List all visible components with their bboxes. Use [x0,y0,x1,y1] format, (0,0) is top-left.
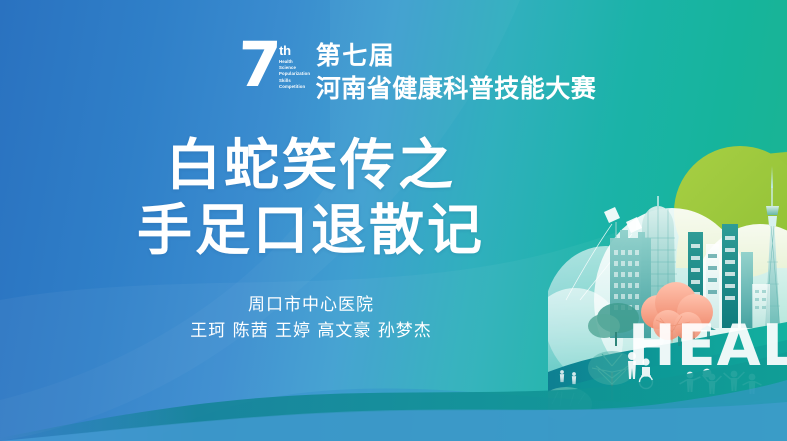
header-competition-name: 河南省健康科普技能大赛 [316,74,597,104]
edition-mark: 7 th Health Science Popularization Skill… [238,40,309,90]
english-line-competition: Competition [279,84,310,90]
poster-canvas: 7 th Health Science Popularization Skill… [0,0,787,441]
header-chinese-block: 第七届 河南省健康科普技能大赛 [316,40,597,104]
main-title: 白蛇笑传之 手足口退散记 [0,133,787,263]
edition-number: 7 [237,40,279,90]
edition-suffix-group: th Health Science Popularization Skills … [279,40,309,90]
credits-organization: 周口市中心医院 [0,292,622,318]
header-edition-text: 第七届 [316,42,597,71]
competition-header: 7 th Health Science Popularization Skill… [238,40,596,104]
main-title-line2: 手足口退散记 [0,198,622,263]
credits-block: 周口市中心医院 王珂 陈茜 王婷 高文豪 孙梦杰 [0,292,787,345]
english-subtitle-lines: Health Science Popularization Skills Com… [279,59,309,90]
credits-authors: 王珂 陈茜 王婷 高文豪 孙梦杰 [0,318,622,344]
edition-ordinal-suffix: th [279,44,309,57]
main-title-line1: 白蛇笑传之 [0,133,622,198]
